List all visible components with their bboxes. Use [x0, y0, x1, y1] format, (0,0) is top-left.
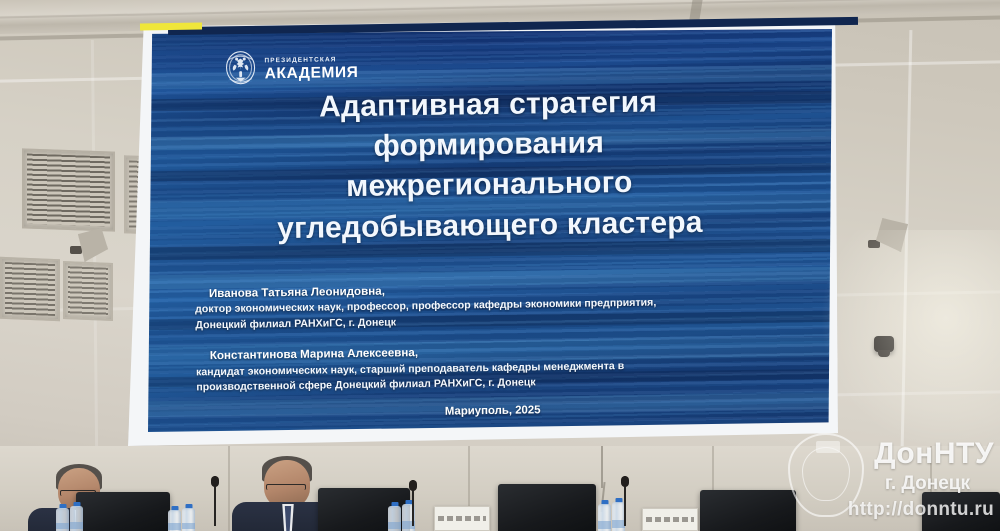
academy-logo: ПРЕЗИДЕНТСКАЯ АКАДЕМИЯ	[223, 47, 358, 89]
table-monitor	[498, 484, 596, 531]
table-monitor	[76, 492, 170, 531]
slide-title: Адаптивная стратегия формирования межрег…	[148, 80, 832, 251]
water-bottle	[70, 502, 83, 531]
table-nameplate	[434, 506, 490, 531]
water-bottle	[56, 504, 69, 531]
screenshot-scene: ПРЕЗИДЕНТСКАЯ АКАДЕМИЯ Адаптивная страте…	[0, 0, 1000, 531]
ventilation-grille-icon	[22, 148, 115, 231]
logo-main-line: АКАДЕМИЯ	[265, 65, 359, 82]
ventilation-grille-icon	[63, 261, 113, 321]
speaker-mount	[70, 246, 82, 254]
water-bottle	[598, 500, 611, 531]
table-nameplate	[642, 508, 698, 531]
water-bottle	[168, 506, 181, 531]
table-monitor	[700, 490, 796, 531]
screen-yellow-marker	[140, 22, 202, 30]
table-monitor	[922, 492, 1000, 531]
microphone	[210, 476, 220, 526]
presentation-slide: ПРЕЗИДЕНТСКАЯ АКАДЕМИЯ Адаптивная страте…	[148, 29, 832, 432]
presiding-table-area	[0, 446, 1000, 531]
microphone	[408, 480, 418, 526]
double-headed-eagle-icon	[223, 48, 258, 88]
ventilation-grille-icon	[0, 257, 60, 322]
water-bottle	[182, 504, 195, 531]
author-block-2: Константинова Марина Алексеевна, кандида…	[196, 339, 797, 396]
author-block-1: Иванова Татьяна Леонидовна, доктор эконо…	[195, 276, 796, 333]
wall-camera-icon	[874, 336, 894, 352]
projection-screen: ПРЕЗИДЕНТСКАЯ АКАДЕМИЯ Адаптивная страте…	[128, 18, 838, 446]
microphone	[620, 476, 630, 526]
slide-authors: Иванова Татьяна Леонидовна, доктор эконо…	[195, 276, 797, 409]
water-bottle	[388, 502, 401, 531]
